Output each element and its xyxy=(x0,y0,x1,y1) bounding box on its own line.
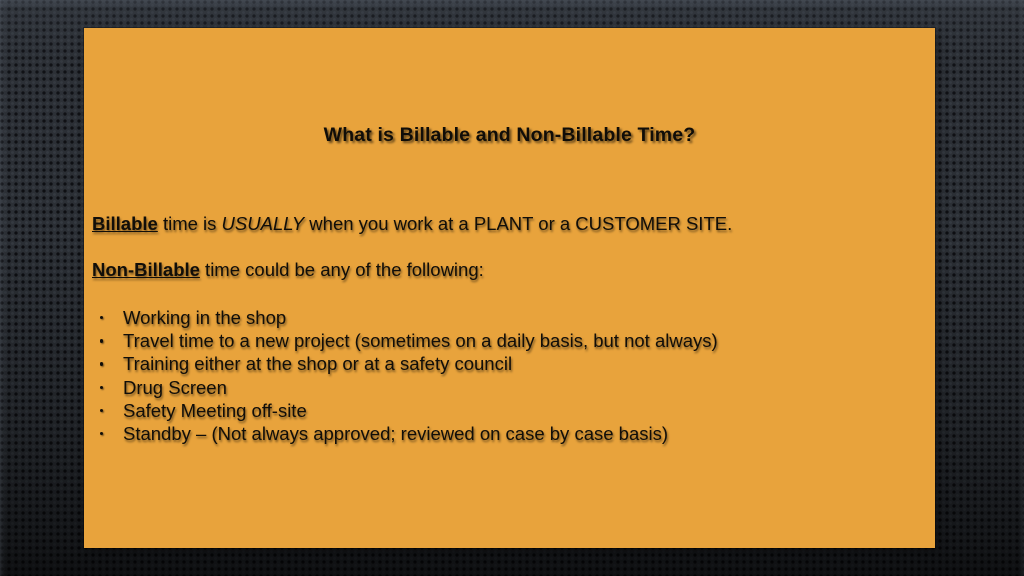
list-item: Drug Screen xyxy=(92,376,927,399)
non-billable-bullet-list: Working in the shop Travel time to a new… xyxy=(92,306,927,445)
statement-billable-lead: Billable xyxy=(92,213,158,234)
list-item: Travel time to a new project (sometimes … xyxy=(92,329,927,352)
page-title: What is Billable and Non-Billable Time? xyxy=(84,124,935,147)
list-item-label: Training either at the shop or at a safe… xyxy=(123,353,512,374)
list-item: Standby – (Not always approved; reviewed… xyxy=(92,422,927,445)
statement-non-billable: Non-Billable time could be any of the fo… xyxy=(92,259,927,281)
statement-non-billable-text-1: time could be any of the following: xyxy=(200,259,484,280)
round-bullet-icon xyxy=(100,409,103,412)
list-item-label: Travel time to a new project (sometimes … xyxy=(123,330,718,351)
statement-billable-text-1: time is xyxy=(158,213,222,234)
list-item-label: Drug Screen xyxy=(123,377,227,398)
round-bullet-icon xyxy=(100,432,103,435)
list-item: Safety Meeting off-site xyxy=(92,399,927,422)
list-item: Working in the shop xyxy=(92,306,927,329)
list-item: Training either at the shop or at a safe… xyxy=(92,352,927,375)
list-item-label: Safety Meeting off-site xyxy=(123,400,307,421)
slide-panel: What is Billable and Non-Billable Time? … xyxy=(84,28,935,548)
round-bullet-icon xyxy=(100,386,103,389)
statement-billable-text-2: when you work at a PLANT or a CUSTOMER S… xyxy=(304,213,732,234)
presentation-stage: What is Billable and Non-Billable Time? … xyxy=(0,0,1024,576)
round-bullet-icon xyxy=(100,316,103,319)
round-bullet-icon xyxy=(100,362,103,365)
statement-billable-emphasis: USUALLY xyxy=(222,213,305,234)
list-item-label: Standby – (Not always approved; reviewed… xyxy=(123,423,668,444)
statement-billable: Billable time is USUALLY when you work a… xyxy=(92,213,927,235)
list-item-label: Working in the shop xyxy=(123,307,286,328)
statement-non-billable-lead: Non-Billable xyxy=(92,259,200,280)
round-bullet-icon xyxy=(100,339,103,342)
